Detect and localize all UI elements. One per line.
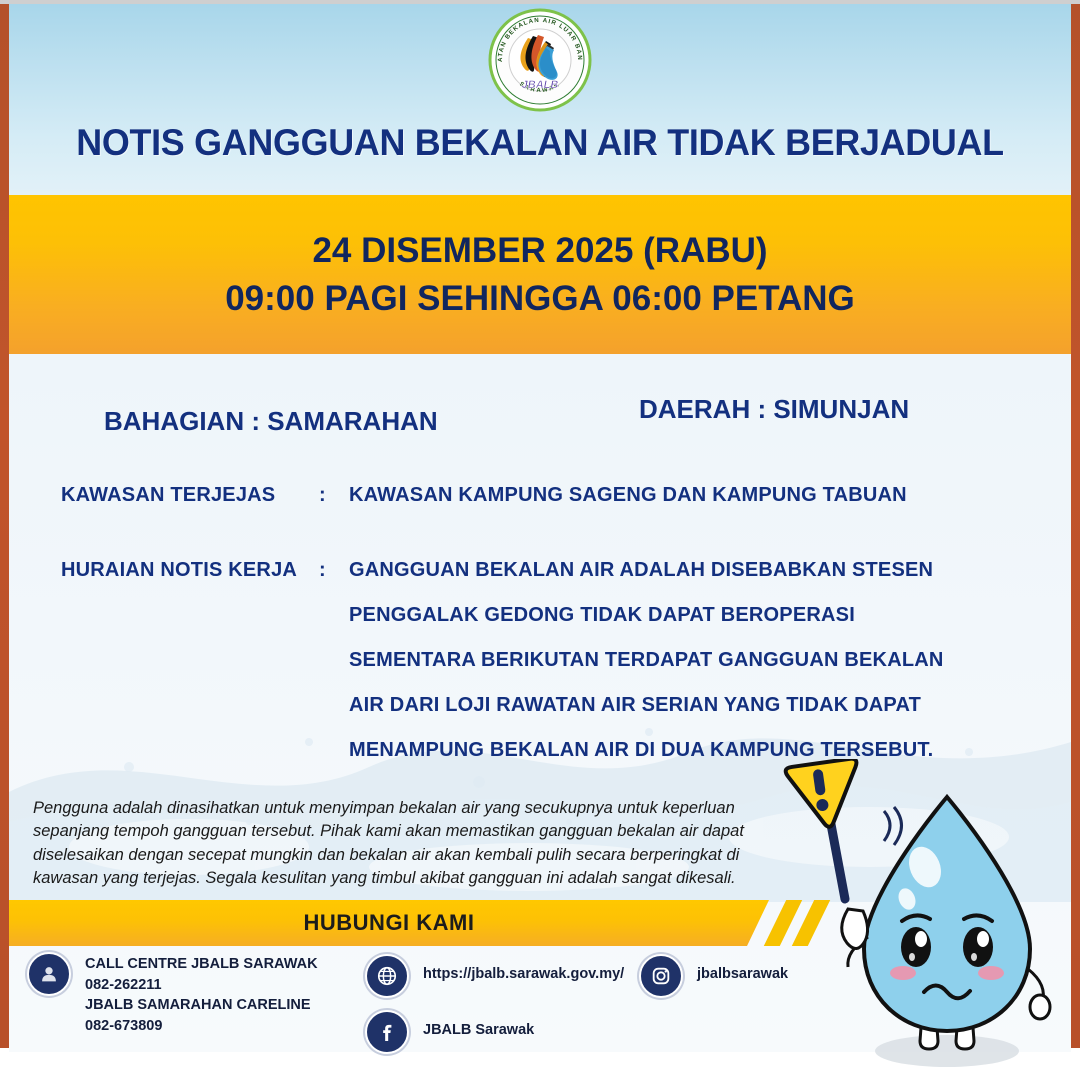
contact-website[interactable]: https://jbalb.sarawak.gov.my/ <box>365 954 624 998</box>
notice-date: 24 DISEMBER 2025 (RABU) <box>312 231 767 271</box>
poster-header: JABATAN BEKALAN AIR LUAR BANDAR SARAWAK … <box>9 4 1071 195</box>
person-icon <box>27 952 71 996</box>
huraian-line: AIR DARI LOJI RAWATAN AIR SERIAN YANG TI… <box>349 694 944 717</box>
contact-website-text: https://jbalb.sarawak.gov.my/ <box>423 954 624 985</box>
kawasan-colon: : <box>319 484 326 507</box>
contact-line: CALL CENTRE JBALB SARAWAK <box>85 954 318 975</box>
bahagian-label: BAHAGIAN : SAMARAHAN <box>104 406 438 437</box>
contact-facebook[interactable]: JBALB Sarawak <box>365 1010 534 1054</box>
kawasan-label: KAWASAN TERJEJAS <box>61 484 275 507</box>
contact-list: CALL CENTRE JBALB SARAWAK 082-262211 JBA… <box>9 952 909 1052</box>
huraian-line: PENGGALAK GEDONG TIDAK DAPAT BEROPERASI <box>349 604 944 627</box>
frame-right-border <box>1071 0 1080 1048</box>
contact-banner-bar: HUBUNGI KAMI <box>9 900 769 946</box>
huraian-line: SEMENTARA BERIKUTAN TERDAPAT GANGGUAN BE… <box>349 649 944 672</box>
globe-icon <box>365 954 409 998</box>
contact-line: JBALB SAMARAHAN CARELINE <box>85 995 318 1016</box>
contact-instagram[interactable]: jbalbsarawak <box>639 954 788 998</box>
date-time-band: 24 DISEMBER 2025 (RABU) 09:00 PAGI SEHIN… <box>9 195 1071 354</box>
svg-text:JBALB: JBALB <box>522 79 559 91</box>
contact-line: https://jbalb.sarawak.gov.my/ <box>423 964 624 985</box>
huraian-colon: : <box>319 559 326 582</box>
contact-call-centre-text: CALL CENTRE JBALB SARAWAK 082-262211 JBA… <box>85 952 318 1036</box>
contact-facebook-text: JBALB Sarawak <box>423 1010 534 1041</box>
contact-call-centre[interactable]: CALL CENTRE JBALB SARAWAK 082-262211 JBA… <box>27 952 318 1036</box>
huraian-line: MENAMPUNG BEKALAN AIR DI DUA KAMPUNG TER… <box>349 739 944 762</box>
frame-top-edge <box>0 0 1080 4</box>
contact-line: JBALB Sarawak <box>423 1020 534 1041</box>
frame-left-border <box>0 0 9 1048</box>
jbalb-logo: JABATAN BEKALAN AIR LUAR BANDAR SARAWAK … <box>488 8 592 112</box>
advisory-paragraph: Pengguna adalah dinasihatkan untuk menyi… <box>33 797 778 891</box>
huraian-lines: GANGGUAN BEKALAN AIR ADALAH DISEBABKAN S… <box>349 559 944 784</box>
kawasan-value: KAWASAN KAMPUNG SAGENG DAN KAMPUNG TABUA… <box>349 484 907 507</box>
contact-line: 082-262211 <box>85 975 318 996</box>
daerah-label: DAERAH : SIMUNJAN <box>639 394 909 425</box>
contact-line: 082-673809 <box>85 1016 318 1037</box>
instagram-icon <box>639 954 683 998</box>
page-title: NOTIS GANGGUAN BEKALAN AIR TIDAK BERJADU… <box>25 122 1055 164</box>
facebook-icon <box>365 1010 409 1054</box>
contact-banner-label: HUBUNGI KAMI <box>304 910 475 936</box>
notice-poster: JABATAN BEKALAN AIR LUAR BANDAR SARAWAK … <box>0 0 1080 1069</box>
contact-instagram-text: jbalbsarawak <box>697 954 788 985</box>
contact-line: jbalbsarawak <box>697 964 788 985</box>
huraian-line: GANGGUAN BEKALAN AIR ADALAH DISEBABKAN S… <box>349 559 944 582</box>
notice-time-range: 09:00 PAGI SEHINGGA 06:00 PETANG <box>225 279 855 319</box>
huraian-label: HURAIAN NOTIS KERJA <box>61 559 297 582</box>
contact-banner: HUBUNGI KAMI <box>9 900 799 946</box>
poster-body: BAHAGIAN : SAMARAHAN DAERAH : SIMUNJAN K… <box>9 354 1071 1052</box>
